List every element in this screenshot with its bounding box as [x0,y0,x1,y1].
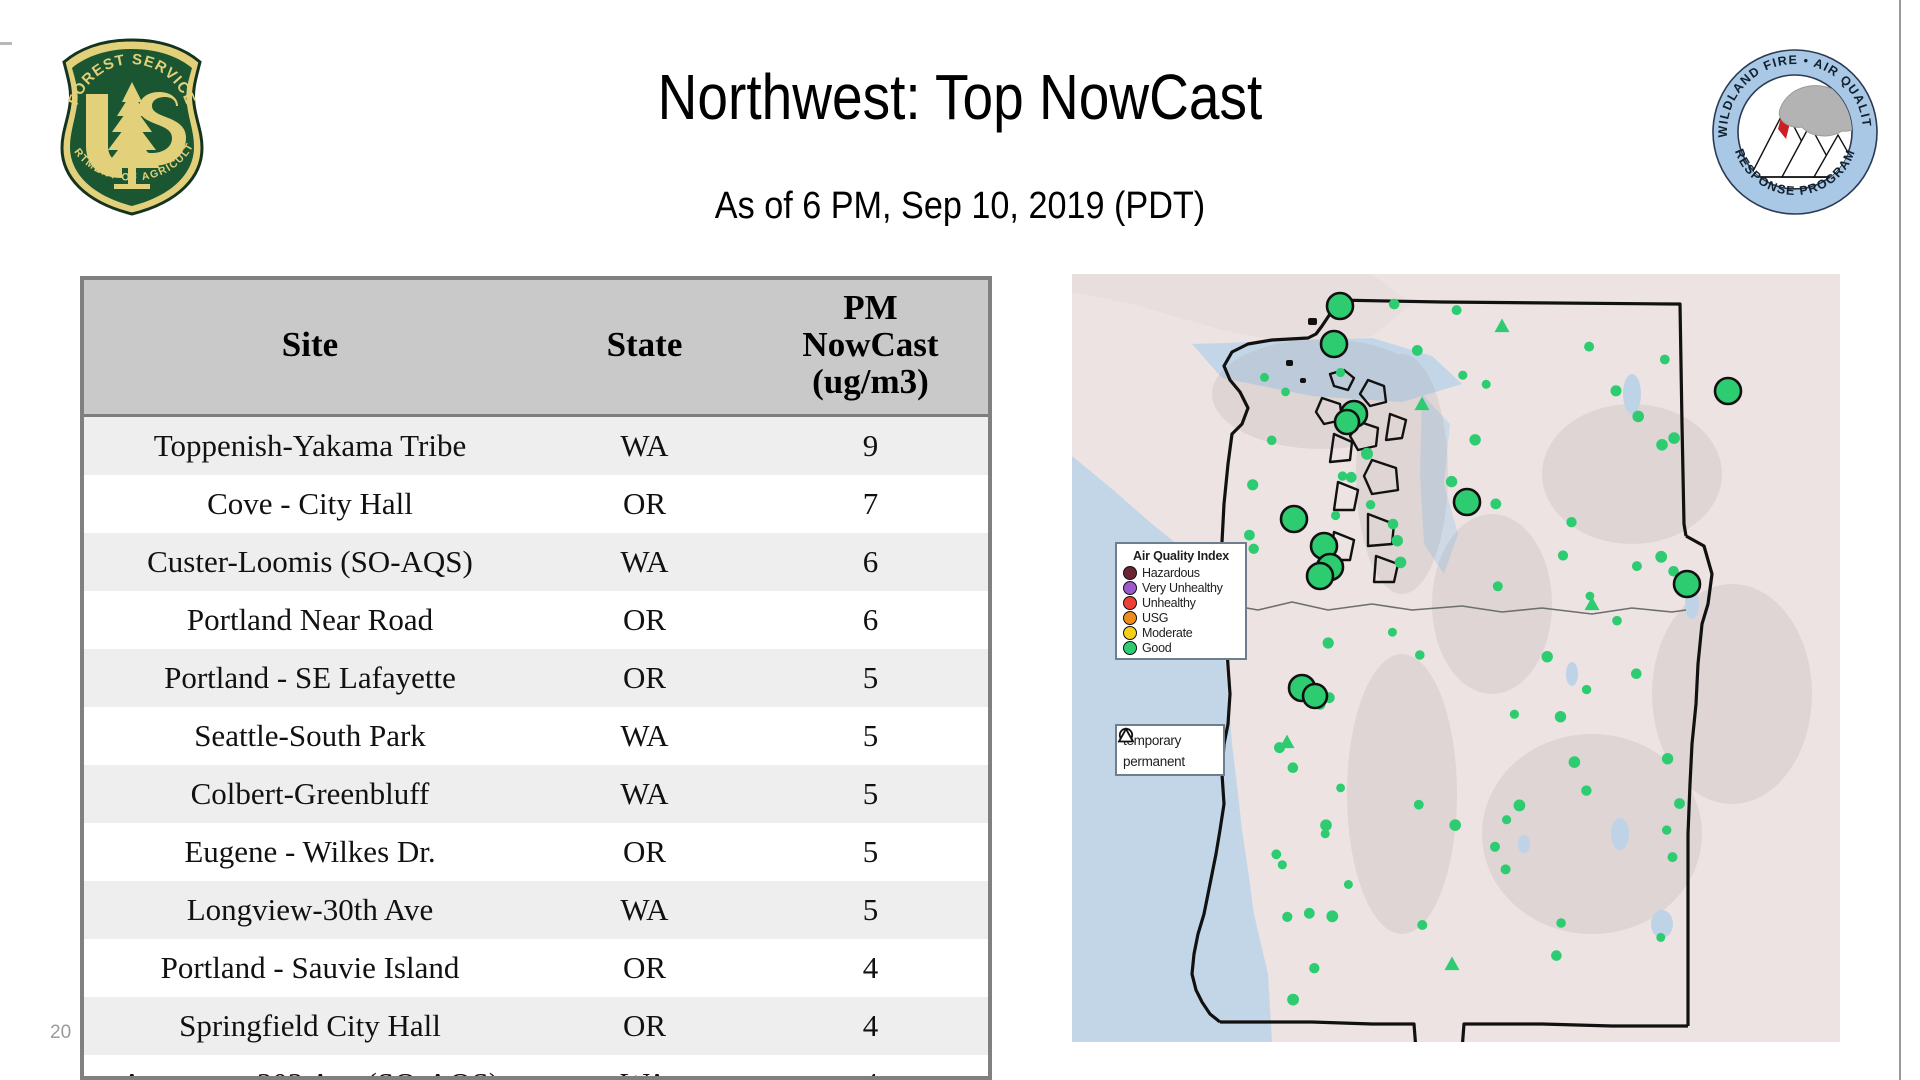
monitor-dot[interactable] [1662,825,1671,834]
monitor-dot[interactable] [1244,530,1255,541]
state-cell: WA [536,707,753,765]
monitor-dot[interactable] [1287,994,1299,1006]
monitor-dot-highlighted[interactable] [1454,489,1480,515]
monitor-dot[interactable] [1344,880,1353,889]
site-cell: Anacortes-202 Ave (SO-AQS) [84,1055,536,1080]
table-row: Toppenish-Yakama TribeWA9 [84,416,988,476]
monitor-dot[interactable] [1304,908,1315,919]
monitor-dot[interactable] [1320,819,1332,831]
monitor-dot[interactable] [1482,380,1491,389]
pm-nowcast-cell: 5 [753,649,988,707]
legend-swatch-icon [1123,626,1137,640]
pm-nowcast-cell: 5 [753,881,988,939]
legend-swatch-icon [1123,641,1137,655]
monitor-dot[interactable] [1660,355,1670,365]
monitor-dot[interactable] [1668,432,1680,444]
state-cell: WA [536,416,753,476]
monitor-dot-highlighted[interactable] [1307,563,1333,589]
monitor-dot[interactable] [1361,448,1373,460]
site-cell: Cove - City Hall [84,475,536,533]
table-row: Custer-Loomis (SO-AQS)WA6 [84,533,988,591]
monitor-dot[interactable] [1260,373,1269,382]
pm-nowcast-cell: 5 [753,823,988,881]
site-cell: Springfield City Hall [84,997,536,1055]
monitor-dot[interactable] [1336,784,1345,793]
monitor-dot[interactable] [1331,511,1340,520]
legend-row-hazardous: Hazardous [1123,565,1239,580]
monitor-dot[interactable] [1510,710,1519,719]
pm-header-line-3: (ug/m3) [753,364,988,401]
monitor-dot[interactable] [1612,616,1622,626]
monitor-dot[interactable] [1555,711,1566,722]
site-cell: Longview-30th Ave [84,881,536,939]
table-row: Anacortes-202 Ave (SO-AQS)WA4 [84,1055,988,1080]
state-cell: OR [536,649,753,707]
monitor-dot[interactable] [1388,519,1399,530]
state-cell: OR [536,939,753,997]
pm-nowcast-cell: 4 [753,997,988,1055]
monitor-dot-highlighted[interactable] [1674,571,1700,597]
monitor-dot[interactable] [1556,918,1566,928]
monitor-dot[interactable] [1558,550,1568,560]
monitor-dot[interactable] [1655,551,1667,563]
legend-row-good: Good [1123,640,1239,655]
monitor-dot[interactable] [1417,920,1427,930]
monitor-dot[interactable] [1366,500,1375,509]
legend-label: Moderate [1142,626,1192,640]
nowcast-table-container: Site State PM NowCast (ug/m3) Toppenish-… [80,276,992,1080]
monitor-dot[interactable] [1452,305,1462,315]
monitor-dot[interactable] [1392,535,1403,546]
table-row: Portland - Sauvie IslandOR4 [84,939,988,997]
monitor-dot-highlighted[interactable] [1281,506,1307,532]
pm-nowcast-cell: 5 [753,765,988,823]
table-row: Portland - SE LafayetteOR5 [84,649,988,707]
monitor-dot-highlighted[interactable] [1335,410,1359,434]
monitor-dot[interactable] [1632,411,1644,423]
table-row: Colbert-GreenbluffWA5 [84,765,988,823]
monitor-dot[interactable] [1249,544,1259,554]
legend-label-permanent: permanent [1123,754,1185,769]
legend-swatch-icon [1123,581,1137,595]
monitor-dot-highlighted[interactable] [1327,293,1353,319]
site-cell: Portland - Sauvie Island [84,939,536,997]
monitor-dot[interactable] [1502,815,1511,824]
monitor-dot[interactable] [1662,753,1673,764]
monitor-dot[interactable] [1271,849,1281,859]
site-cell: Colbert-Greenbluff [84,765,536,823]
legend-row-temporary: temporary [1123,730,1217,751]
pm-nowcast-cell: 4 [753,1055,988,1080]
monitor-dot[interactable] [1631,668,1642,679]
legend-row-usg: USG [1123,610,1239,625]
monitor-dot[interactable] [1542,651,1553,662]
monitor-dot[interactable] [1582,685,1591,694]
monitor-type-legend: temporary permanent [1115,724,1225,776]
monitor-dot[interactable] [1668,852,1678,862]
table-header-row: Site State PM NowCast (ug/m3) [84,280,988,416]
monitor-dot[interactable] [1446,476,1457,487]
legend-label: Very Unhealthy [1142,581,1223,595]
northwest-monitor-map[interactable]: Air Quality Index HazardousVery Unhealth… [1072,274,1840,1042]
legend-label: USG [1142,611,1168,625]
monitor-dot[interactable] [1569,756,1581,768]
monitor-dot[interactable] [1288,762,1299,773]
monitor-dot[interactable] [1388,628,1397,637]
site-cell: Eugene - Wilkes Dr. [84,823,536,881]
air-quality-index-legend: Air Quality Index HazardousVery Unhealth… [1115,542,1247,660]
table-row: Longview-30th AveWA5 [84,881,988,939]
monitor-dot-highlighted[interactable] [1303,684,1327,708]
monitor-dot[interactable] [1309,963,1319,973]
monitor-dot[interactable] [1449,819,1461,831]
triangle-icon [1117,726,1135,744]
table-row: Springfield City HallOR4 [84,997,988,1055]
slide-right-border [1899,0,1901,1080]
legend-row-moderate: Moderate [1123,625,1239,640]
monitor-dot[interactable] [1415,650,1425,660]
pm-nowcast-cell: 9 [753,416,988,476]
monitor-dot[interactable] [1566,517,1576,527]
legend-swatch-icon [1123,566,1137,580]
state-cell: OR [536,475,753,533]
monitor-dot[interactable] [1632,561,1642,571]
legend-label: Hazardous [1142,566,1200,580]
monitor-dot[interactable] [1267,436,1277,446]
monitor-dot-highlighted[interactable] [1715,378,1741,404]
legend-label: Good [1142,641,1171,655]
column-header-state: State [536,280,753,416]
monitor-dot-highlighted[interactable] [1321,331,1347,357]
monitor-dot[interactable] [1338,471,1347,480]
legend-row-unhealthy: Unhealthy [1123,595,1239,610]
monitor-dot[interactable] [1336,368,1345,377]
monitor-dot[interactable] [1514,800,1526,812]
monitor-dot[interactable] [1490,842,1500,852]
monitor-dot[interactable] [1656,933,1665,942]
site-cell: Seattle-South Park [84,707,536,765]
site-cell: Toppenish-Yakama Tribe [84,416,536,476]
state-cell: OR [536,823,753,881]
page-title: Northwest: Top NowCast [134,60,1785,134]
monitor-dot[interactable] [1458,371,1467,380]
table-body: Toppenish-Yakama TribeWA9Cove - City Hal… [84,416,988,1080]
monitor-dot[interactable] [1674,798,1685,809]
state-cell: WA [536,533,753,591]
site-cell: Custer-Loomis (SO-AQS) [84,533,536,591]
state-cell: WA [536,1055,753,1080]
monitor-dot[interactable] [1493,581,1503,591]
table-row: Seattle-South ParkWA5 [84,707,988,765]
monitor-dot[interactable] [1247,479,1258,490]
pm-nowcast-cell: 6 [753,591,988,649]
pm-nowcast-cell: 6 [753,533,988,591]
state-cell: WA [536,881,753,939]
monitor-dot[interactable] [1395,557,1407,569]
monitor-dot[interactable] [1584,342,1594,352]
pm-nowcast-cell: 7 [753,475,988,533]
slide-number: 20 [50,1022,71,1044]
column-header-site: Site [84,280,536,416]
table-row: Eugene - Wilkes Dr.OR5 [84,823,988,881]
nowcast-table: Site State PM NowCast (ug/m3) Toppenish-… [84,280,988,1080]
state-cell: OR [536,591,753,649]
page-subtitle: As of 6 PM, Sep 10, 2019 (PDT) [96,185,1824,228]
pm-header-line-2: NowCast [753,327,988,364]
monitor-dot[interactable] [1412,345,1423,356]
monitor-dot[interactable] [1282,912,1292,922]
state-cell: OR [536,997,753,1055]
site-cell: Portland Near Road [84,591,536,649]
monitor-dot[interactable] [1490,499,1501,510]
legend-swatch-icon [1123,611,1137,625]
monitor-dot[interactable] [1414,800,1424,810]
monitor-dot[interactable] [1469,434,1480,445]
monitor-dot[interactable] [1611,385,1622,396]
state-cell: WA [536,765,753,823]
monitor-dot[interactable] [1389,299,1400,310]
monitor-dot[interactable] [1501,864,1511,874]
slide-left-tick [0,42,12,45]
column-header-pm-nowcast: PM NowCast (ug/m3) [753,280,988,416]
pm-header-line-1: PM [753,290,988,327]
legend-label: Unhealthy [1142,596,1196,610]
monitor-dot[interactable] [1323,637,1334,648]
site-cell: Portland - SE Lafayette [84,649,536,707]
monitor-dot[interactable] [1551,950,1562,961]
monitor-dot[interactable] [1326,910,1338,922]
legend-row-very-unhealthy: Very Unhealthy [1123,580,1239,595]
monitor-dot[interactable] [1278,860,1287,869]
pm-nowcast-cell: 5 [753,707,988,765]
table-row: Portland Near RoadOR6 [84,591,988,649]
table-row: Cove - City HallOR7 [84,475,988,533]
pm-nowcast-cell: 4 [753,939,988,997]
monitor-dot[interactable] [1656,439,1668,451]
monitor-dot[interactable] [1281,388,1290,397]
monitor-dot[interactable] [1346,472,1357,483]
legend-row-permanent: permanent [1123,751,1217,772]
legend-title: Air Quality Index [1123,549,1239,563]
legend-swatch-icon [1123,596,1137,610]
monitor-dot[interactable] [1581,785,1591,795]
